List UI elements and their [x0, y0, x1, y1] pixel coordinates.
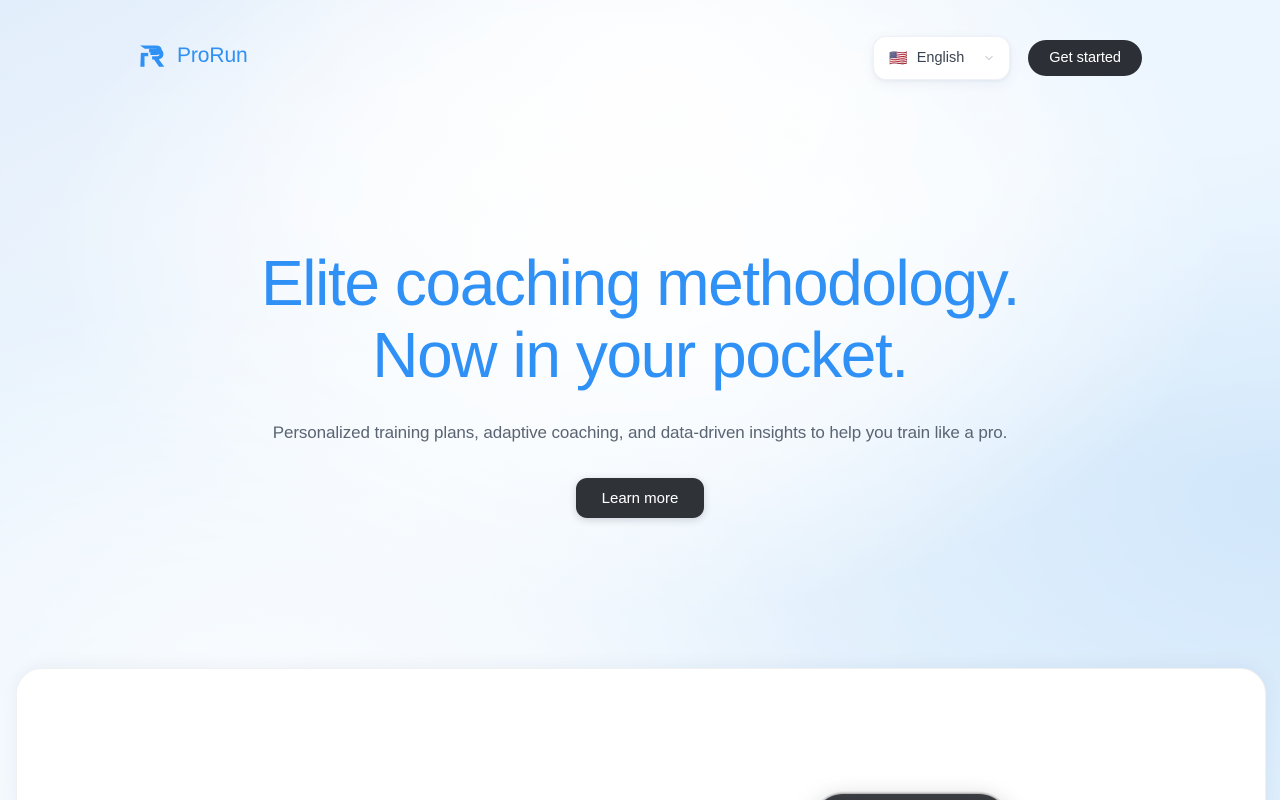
language-selector[interactable]: 🇺🇸 English	[873, 36, 1010, 80]
hero-title-line-1: Elite coaching methodology.	[0, 247, 1280, 319]
chevron-down-icon	[985, 54, 993, 62]
showcase-card	[16, 668, 1266, 800]
brand-name: ProRun	[177, 45, 248, 66]
get-started-button[interactable]: Get started	[1028, 40, 1142, 76]
pr-monogram-icon	[138, 42, 168, 68]
brand-logo-link[interactable]: ProRun	[138, 42, 248, 68]
landing-page: ProRun 🇺🇸 English Get started Elite coac…	[0, 0, 1280, 800]
us-flag-icon: 🇺🇸	[889, 51, 908, 66]
header-actions: 🇺🇸 English Get started	[873, 36, 1142, 80]
learn-more-button[interactable]: Learn more	[576, 478, 705, 518]
phone-device-mockup	[813, 794, 1009, 800]
hero-cta-container: Learn more	[0, 445, 1280, 518]
hero-subtitle: Personalized training plans, adaptive co…	[0, 392, 1280, 446]
language-label: English	[917, 51, 965, 66]
hero-title-line-2: Now in your pocket.	[0, 319, 1280, 391]
site-header: ProRun 🇺🇸 English Get started	[0, 0, 1280, 116]
